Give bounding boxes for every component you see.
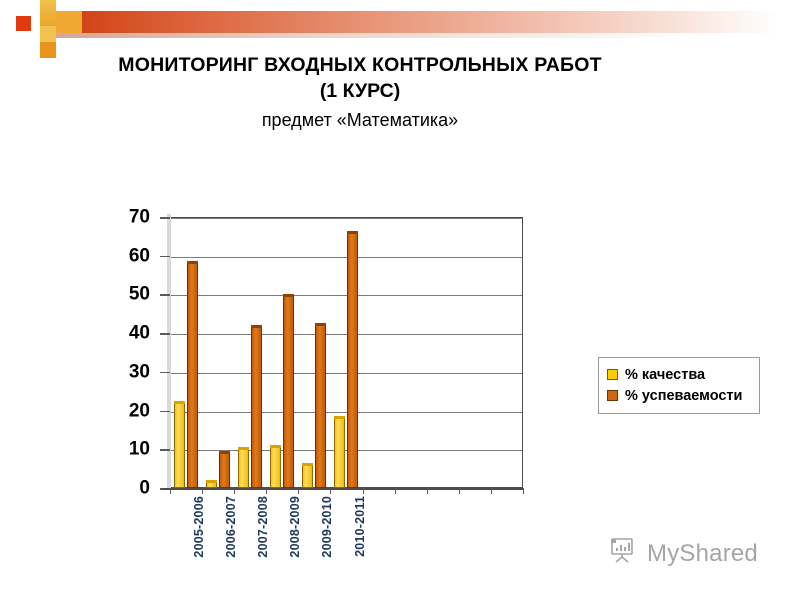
- x-axis-labels: 2005-20062006-20072007-20082008-20092009…: [170, 496, 523, 576]
- bar-performance: [187, 263, 198, 488]
- x-axis-tick: [523, 488, 524, 494]
- legend-item-quality: % качества: [607, 364, 752, 385]
- bar-quality: [206, 482, 217, 488]
- x-axis-tick: [298, 488, 299, 494]
- bar-top-cap: [270, 445, 281, 448]
- bar-group: [202, 217, 234, 488]
- slide-header-decoration: [0, 0, 800, 52]
- x-axis-tick: [363, 488, 364, 494]
- bar-series-container: [170, 217, 523, 488]
- y-axis-tick: [160, 449, 170, 451]
- y-axis-ticks: [160, 217, 170, 488]
- page-title-line2: (1 КУРС): [60, 78, 660, 104]
- bar-quality: [270, 447, 281, 488]
- bar-performance: [251, 327, 262, 488]
- slide-title-block: МОНИТОРИНГ ВХОДНЫХ КОНТРОЛЬНЫХ РАБОТ (1 …: [60, 52, 660, 134]
- y-axis-labels: 706050403020100: [104, 200, 150, 472]
- x-axis-tick-label: 2005-2006: [192, 496, 206, 558]
- header-band-shadow: [50, 33, 800, 38]
- bar-performance: [283, 296, 294, 488]
- bar-top-cap: [187, 261, 198, 264]
- y-axis-tick: [160, 217, 170, 219]
- legend-label-quality: % качества: [625, 367, 705, 383]
- legend-swatch-performance-icon: [607, 390, 618, 401]
- header-square-orange-wide: [56, 11, 82, 33]
- bar-top-cap: [334, 416, 345, 419]
- bar-top-cap: [251, 325, 262, 328]
- bar-performance: [315, 325, 326, 488]
- y-axis-tick-label: 30: [104, 362, 150, 381]
- header-gradient-band: [50, 11, 800, 33]
- x-axis-tick-label: 2009-2010: [320, 496, 334, 558]
- bar-quality: [302, 465, 313, 488]
- x-axis-ticks: [170, 488, 523, 495]
- y-axis-tick-label: 40: [104, 324, 150, 343]
- x-axis-tick: [459, 488, 460, 494]
- bar-quality: [334, 418, 345, 488]
- myshared-watermark: MyShared: [608, 536, 758, 571]
- x-axis-tick: [170, 488, 171, 494]
- bar-quality: [174, 403, 185, 488]
- x-axis-tick-label: 2008-2009: [288, 496, 302, 558]
- watermark-label: MyShared: [647, 540, 758, 568]
- presentation-board-icon: [608, 536, 638, 571]
- bar-group: [170, 217, 202, 488]
- x-axis-tick-label: 2007-2008: [256, 496, 270, 558]
- bar-top-cap: [238, 447, 249, 450]
- bar-top-cap: [347, 231, 358, 234]
- bar-chart: 706050403020100 2005-20062006-20072007-2…: [104, 200, 534, 500]
- bar-group: [266, 217, 298, 488]
- y-axis-tick-label: 10: [104, 440, 150, 459]
- y-axis-tick: [160, 256, 170, 258]
- header-square-red: [16, 16, 31, 31]
- legend-item-performance: % успеваемости: [607, 385, 752, 406]
- legend-label-performance: % успеваемости: [625, 388, 742, 404]
- bar-group: [330, 217, 362, 488]
- bar-group: [234, 217, 266, 488]
- bar-group: [298, 217, 330, 488]
- x-axis-tick: [202, 488, 203, 494]
- x-axis-tick: [266, 488, 267, 494]
- bar-top-cap: [283, 294, 294, 297]
- x-axis-tick: [395, 488, 396, 494]
- y-axis-tick-label: 20: [104, 401, 150, 420]
- y-axis-tick-label: 0: [104, 479, 150, 498]
- bar-top-cap: [315, 323, 326, 326]
- y-axis-tick: [160, 294, 170, 296]
- page-title: МОНИТОРИНГ ВХОДНЫХ КОНТРОЛЬНЫХ РАБОТ: [60, 52, 660, 78]
- x-axis-tick-label: 2010-2011: [353, 496, 367, 557]
- bar-performance: [219, 453, 230, 488]
- x-axis-line: [162, 488, 523, 490]
- bar-top-cap: [174, 401, 185, 404]
- x-axis-tick: [234, 488, 235, 494]
- y-axis-tick: [160, 372, 170, 374]
- x-axis-tick: [427, 488, 428, 494]
- header-square-gold: [40, 26, 56, 42]
- bar-top-cap: [206, 480, 217, 483]
- y-axis-tick-label: 50: [104, 285, 150, 304]
- bar-top-cap: [302, 463, 313, 466]
- header-square-amber: [40, 42, 56, 58]
- chart-legend: % качества % успеваемости: [598, 357, 760, 414]
- bar-quality: [238, 449, 249, 488]
- x-axis-tick-label: 2006-2007: [224, 496, 238, 558]
- header-square-gold-tall: [40, 0, 56, 26]
- y-axis-tick: [160, 333, 170, 335]
- page-subtitle: предмет «Математика»: [60, 106, 660, 134]
- y-axis-tick: [160, 411, 170, 413]
- y-axis-tick-label: 70: [104, 208, 150, 227]
- bar-top-cap: [219, 451, 230, 454]
- x-axis-tick: [491, 488, 492, 494]
- x-axis-tick: [330, 488, 331, 494]
- bar-performance: [347, 233, 358, 489]
- y-axis-tick-label: 60: [104, 246, 150, 265]
- legend-swatch-quality-icon: [607, 369, 618, 380]
